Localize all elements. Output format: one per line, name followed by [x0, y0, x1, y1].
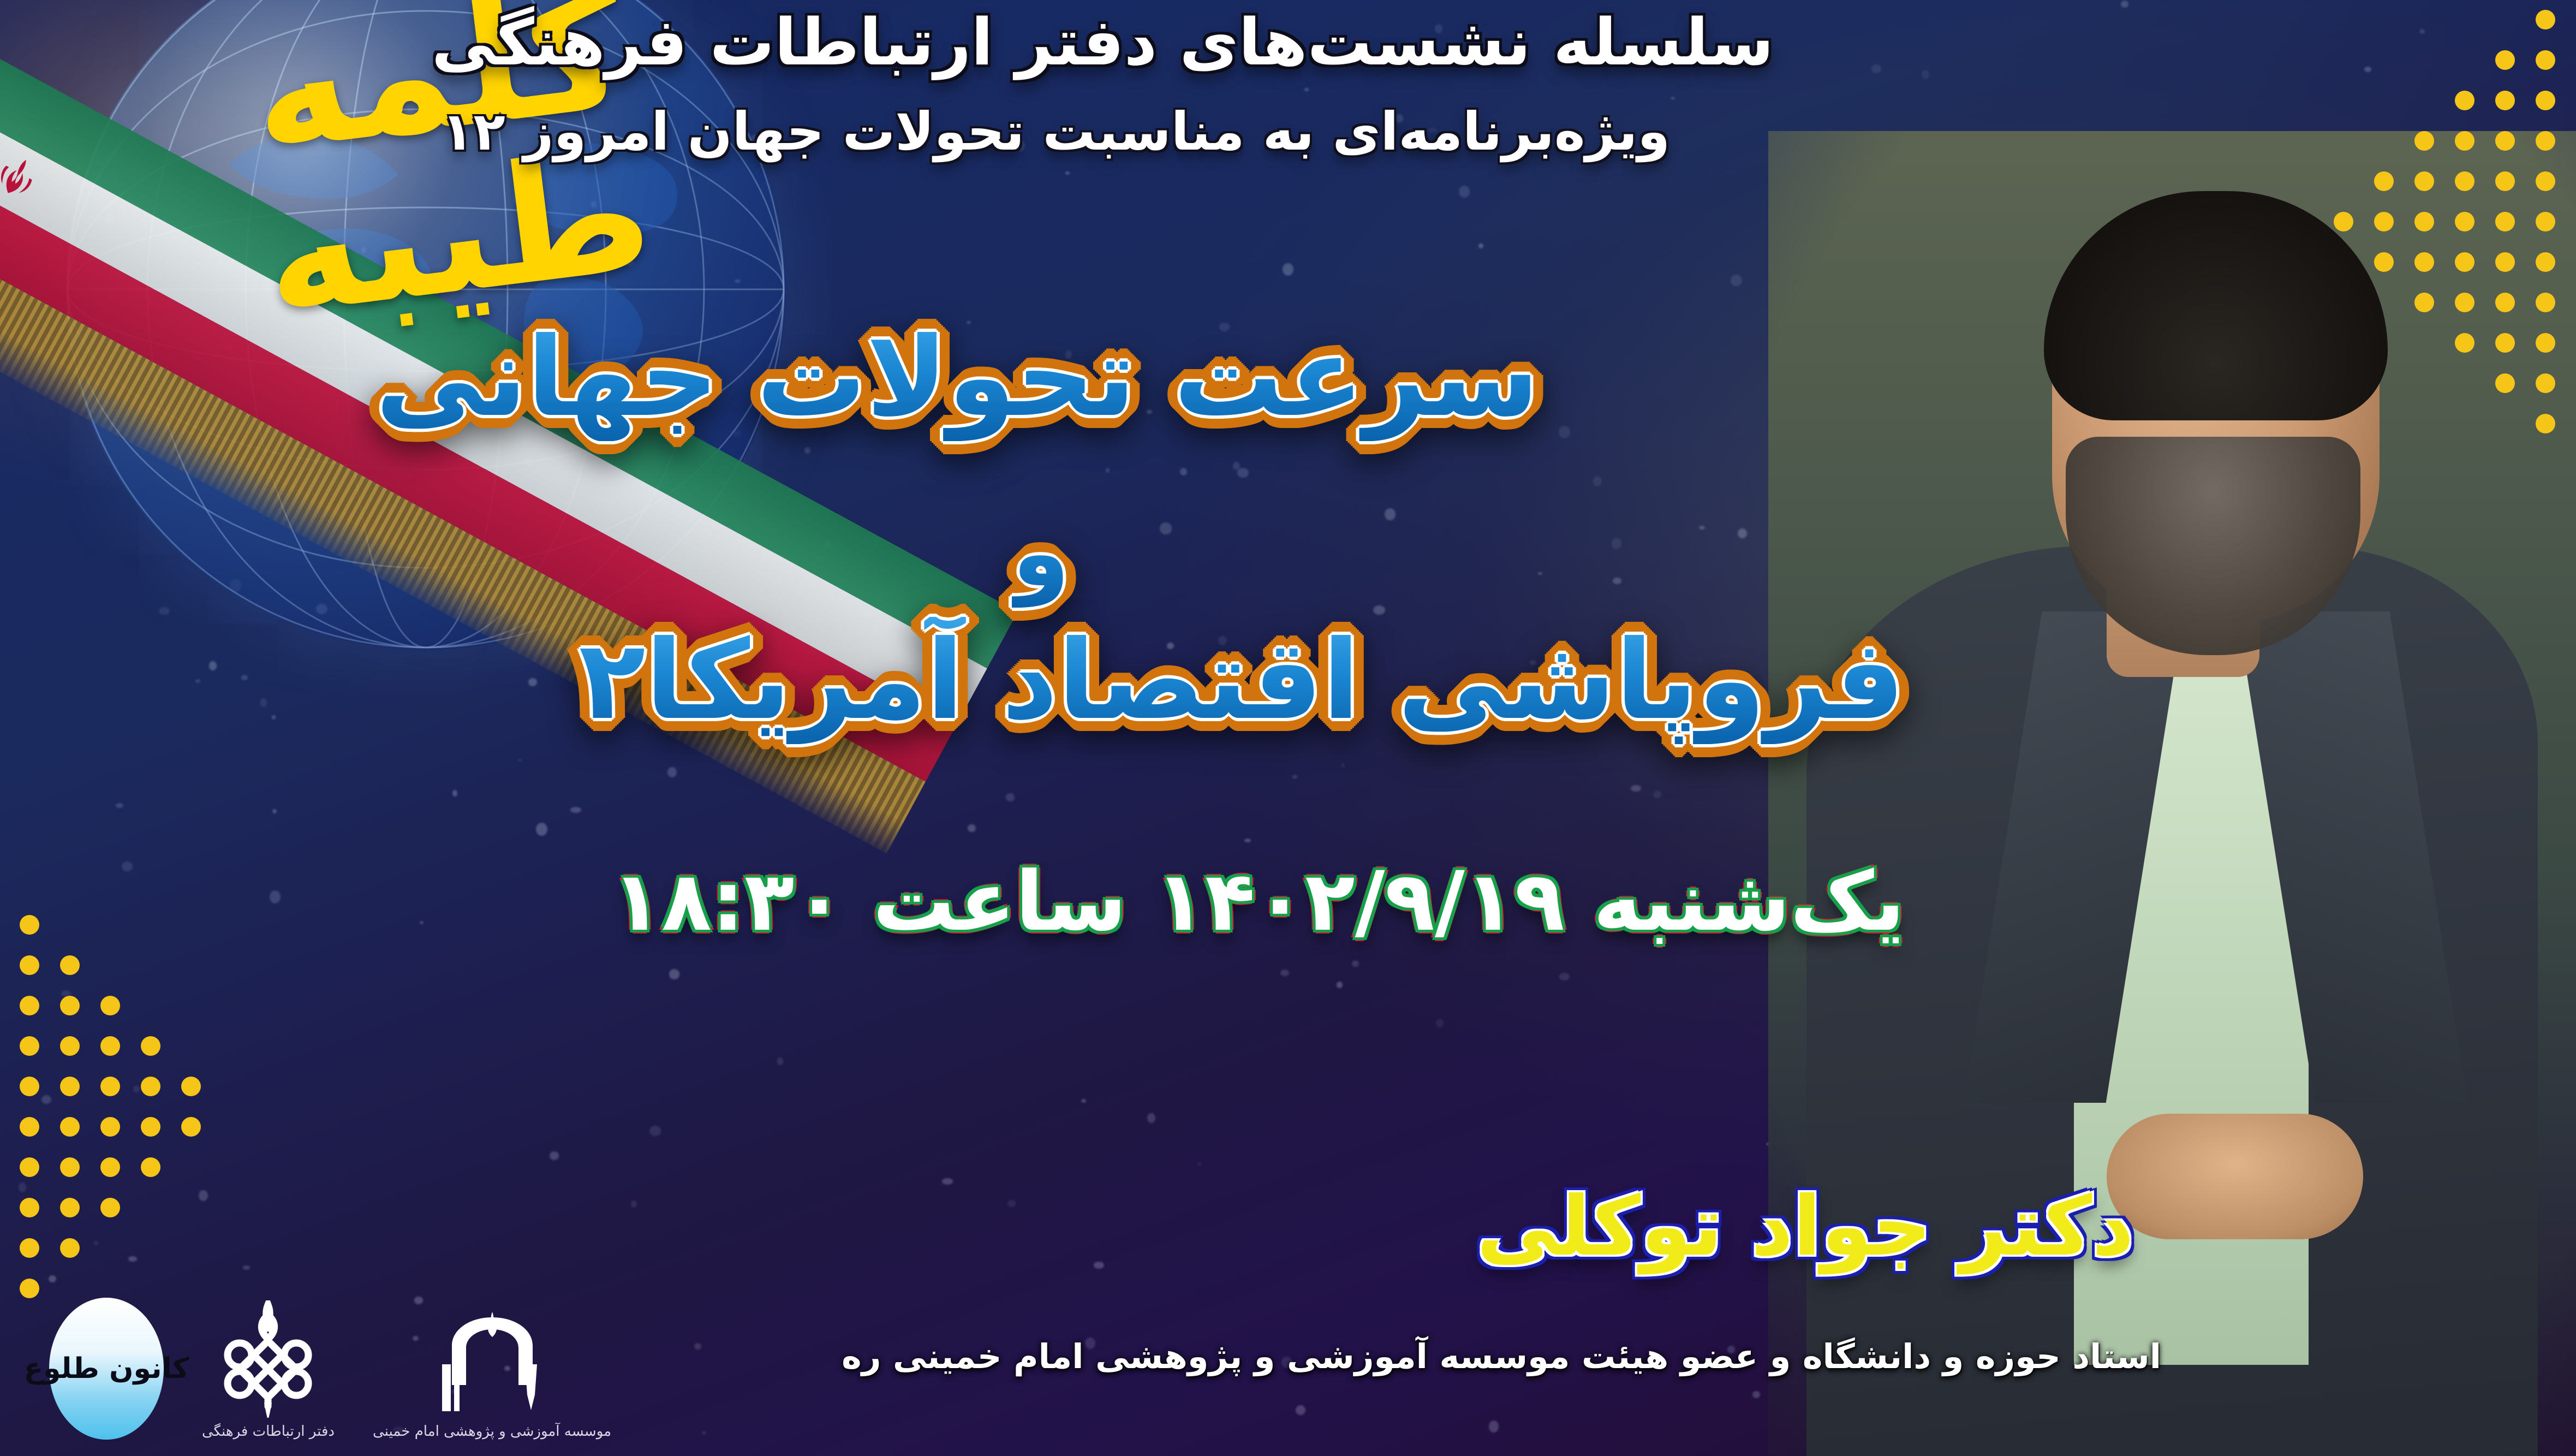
logo-caption: موسسه آموزشی و پژوهشی امام خمینی — [373, 1423, 611, 1440]
speaker-role: استاد حوزه و دانشگاه و عضو هیئت موسسه آم… — [842, 1336, 2161, 1376]
page-title-line-1: سرعت تحولات جهانی — [375, 314, 1539, 441]
event-poster: کلمه طیبه سلسله نشست‌های دفتر ارتباطات ف… — [0, 0, 2576, 1456]
knot-emblem-icon — [216, 1300, 320, 1418]
title-conjunction: و — [1012, 500, 1070, 608]
logo-cultural-relations-office: دفتر ارتباطات فرهنگی — [202, 1300, 335, 1440]
logo-caption: کانون طلوع — [24, 1352, 189, 1385]
arch-pen-icon — [438, 1303, 547, 1418]
speaker-name: دکتر جواد توکلی — [1477, 1179, 2134, 1274]
oval-badge-icon: کانون طلوع — [49, 1298, 164, 1440]
logo-caption: دفتر ارتباطات فرهنگی — [202, 1423, 335, 1440]
event-datetime: یک‌شنبه ۱۴۰۲/۹/۱۹ ساعت ۱۸:۳۰ — [612, 854, 1905, 949]
series-header: سلسله نشست‌های دفتر ارتباطات فرهنگی — [432, 4, 1774, 80]
page-title-line-2: فروپاشی اقتصاد آمریکا۲ — [579, 617, 1905, 744]
organizer-logos: موسسه آموزشی و پژوهشی امام خمینی — [49, 1298, 611, 1440]
occasion-subtitle: ویژه‌برنامه‌ای به مناسبت تحولات جهان امر… — [442, 101, 1670, 162]
logo-imam-khomeini-institute: موسسه آموزشی و پژوهشی امام خمینی — [373, 1303, 611, 1440]
logo-kanoon-tolou: کانون طلوع — [49, 1298, 164, 1440]
